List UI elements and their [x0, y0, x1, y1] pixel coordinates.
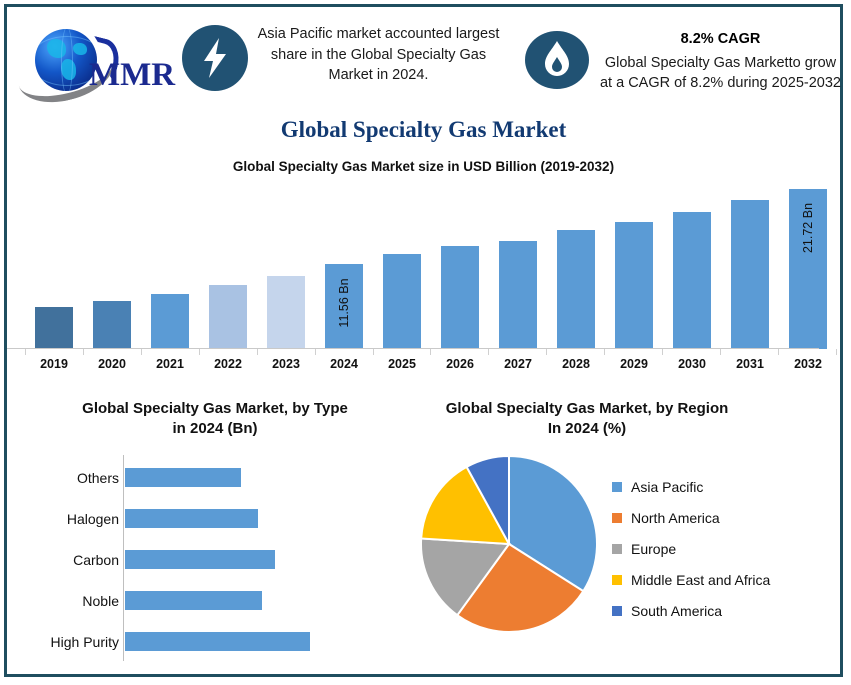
legend-item: Europe	[612, 533, 770, 564]
type-chart-title-line1: Global Specialty Gas Market, by Type	[25, 399, 405, 419]
legend-swatch	[612, 513, 622, 523]
type-bar-row: Halogen	[25, 498, 405, 539]
page-title: Global Specialty Gas Market	[7, 117, 840, 143]
logo-text: MMR	[89, 57, 175, 94]
column-cell	[721, 179, 779, 349]
type-category-label: High Purity	[25, 634, 125, 650]
type-category-label: Halogen	[25, 511, 125, 527]
cagr-description: Global Specialty Gas Marketto grow at a …	[600, 55, 841, 92]
type-chart-plot: OthersHalogenCarbonNobleHigh Purity	[25, 455, 405, 661]
column-bar: 11.56 Bn	[325, 264, 363, 349]
x-axis-label: 2029	[605, 357, 663, 371]
axis-tick	[141, 349, 199, 355]
header-right-note: 8.2% CAGR Global Specialty Gas Marketto …	[599, 29, 842, 94]
type-bar	[125, 468, 241, 487]
column-bar	[267, 276, 305, 349]
column-cell	[373, 179, 431, 349]
type-bar-row: Noble	[25, 580, 405, 621]
type-bar	[125, 509, 258, 528]
column-bar	[557, 230, 595, 349]
cagr-label: 8.2% CAGR	[599, 29, 842, 50]
axis-tick	[720, 349, 778, 355]
x-axis-label: 2030	[663, 357, 721, 371]
mmr-logo: MMR	[17, 21, 172, 99]
axis-tick	[315, 349, 373, 355]
type-category-label: Others	[25, 470, 125, 486]
x-axis-label: 2020	[83, 357, 141, 371]
column-cell	[431, 179, 489, 349]
x-axis-label: 2024	[315, 357, 373, 371]
column-cell: 11.56 Bn	[315, 179, 373, 349]
x-axis-label: 2023	[257, 357, 315, 371]
lightning-bolt-icon	[182, 25, 248, 91]
column-bar	[209, 285, 247, 349]
column-cell	[605, 179, 663, 349]
type-bar-row: Others	[25, 457, 405, 498]
axis-tick	[373, 349, 431, 355]
x-axis-label: 2027	[489, 357, 547, 371]
x-axis-label: 2026	[431, 357, 489, 371]
pie-chart-title-line2: In 2024 (%)	[417, 419, 757, 439]
type-category-label: Carbon	[25, 552, 125, 568]
column-cell	[257, 179, 315, 349]
legend-swatch	[612, 544, 622, 554]
column-cell	[489, 179, 547, 349]
legend-label: Middle East and Africa	[631, 572, 770, 588]
column-bar: 21.72 Bn	[789, 189, 827, 350]
legend-item: North America	[612, 502, 770, 533]
x-axis-label: 2019	[25, 357, 83, 371]
axis-tick	[25, 349, 83, 355]
column-cell	[547, 179, 605, 349]
column-cell	[83, 179, 141, 349]
legend-item: Asia Pacific	[612, 471, 770, 502]
legend-label: Europe	[631, 541, 676, 557]
legend-label: Asia Pacific	[631, 479, 703, 495]
market-by-region-chart: Global Specialty Gas Market, by Region I…	[417, 399, 842, 674]
axis-tick	[604, 349, 662, 355]
column-bar	[93, 301, 131, 349]
column-bar	[151, 294, 189, 349]
type-bar-row: Carbon	[25, 539, 405, 580]
column-cell	[141, 179, 199, 349]
axis-tick	[199, 349, 257, 355]
column-chart-title: Global Specialty Gas Market size in USD …	[7, 159, 840, 174]
x-axis-label: 2031	[721, 357, 779, 371]
axis-tick	[546, 349, 604, 355]
column-value-label: 21.72 Bn	[801, 202, 815, 252]
legend-swatch	[612, 606, 622, 616]
x-axis-label: 2032	[779, 357, 837, 371]
column-bar	[35, 307, 73, 349]
column-bar	[441, 246, 479, 349]
pie-chart-title: Global Specialty Gas Market, by Region I…	[417, 399, 757, 440]
legend-item: South America	[612, 595, 770, 626]
x-axis-label: 2028	[547, 357, 605, 371]
type-chart-title-line2: in 2024 (Bn)	[25, 419, 405, 439]
infographic-frame: MMR Asia Pacific market accounted larges…	[4, 4, 843, 677]
column-bar	[731, 200, 769, 349]
legend-swatch	[612, 482, 622, 492]
column-bar	[673, 212, 711, 349]
column-bar	[615, 222, 653, 349]
type-bar	[125, 632, 310, 651]
legend-label: North America	[631, 510, 720, 526]
header: MMR Asia Pacific market accounted larges…	[7, 7, 840, 111]
header-left-note: Asia Pacific market accounted largest sh…	[257, 24, 500, 86]
column-cell: 21.72 Bn	[779, 179, 837, 349]
market-by-type-chart: Global Specialty Gas Market, by Type in …	[25, 399, 415, 674]
type-category-label: Noble	[25, 593, 125, 609]
column-bar	[383, 254, 421, 349]
type-chart-title: Global Specialty Gas Market, by Type in …	[25, 399, 405, 440]
axis-tick	[257, 349, 315, 355]
x-axis-label: 2021	[141, 357, 199, 371]
type-bar	[125, 591, 262, 610]
axis-tick	[430, 349, 488, 355]
x-axis-label: 2022	[199, 357, 257, 371]
column-value-label: 11.56 Bn	[337, 278, 351, 327]
legend-label: South America	[631, 603, 722, 619]
type-bar	[125, 550, 275, 569]
axis-tick	[778, 349, 837, 355]
column-chart-plot: 11.56 Bn21.72 Bn	[25, 179, 837, 349]
x-axis-label: 2025	[373, 357, 431, 371]
column-bar	[499, 241, 537, 349]
pie-legend: Asia PacificNorth AmericaEuropeMiddle Ea…	[612, 471, 770, 626]
column-cell	[199, 179, 257, 349]
column-chart-ticks	[25, 349, 837, 355]
axis-tick	[488, 349, 546, 355]
pie-chart-title-line1: Global Specialty Gas Market, by Region	[417, 399, 757, 419]
legend-swatch	[612, 575, 622, 585]
market-size-column-chart: 11.56 Bn21.72 Bn	[25, 179, 837, 349]
pie-graphic	[420, 455, 598, 633]
type-bar-row: High Purity	[25, 621, 405, 662]
column-cell	[663, 179, 721, 349]
legend-item: Middle East and Africa	[612, 564, 770, 595]
flame-icon	[525, 31, 589, 89]
column-chart-x-labels: 2019202020212022202320242025202620272028…	[25, 357, 837, 371]
axis-tick	[83, 349, 141, 355]
axis-tick	[662, 349, 720, 355]
column-cell	[25, 179, 83, 349]
